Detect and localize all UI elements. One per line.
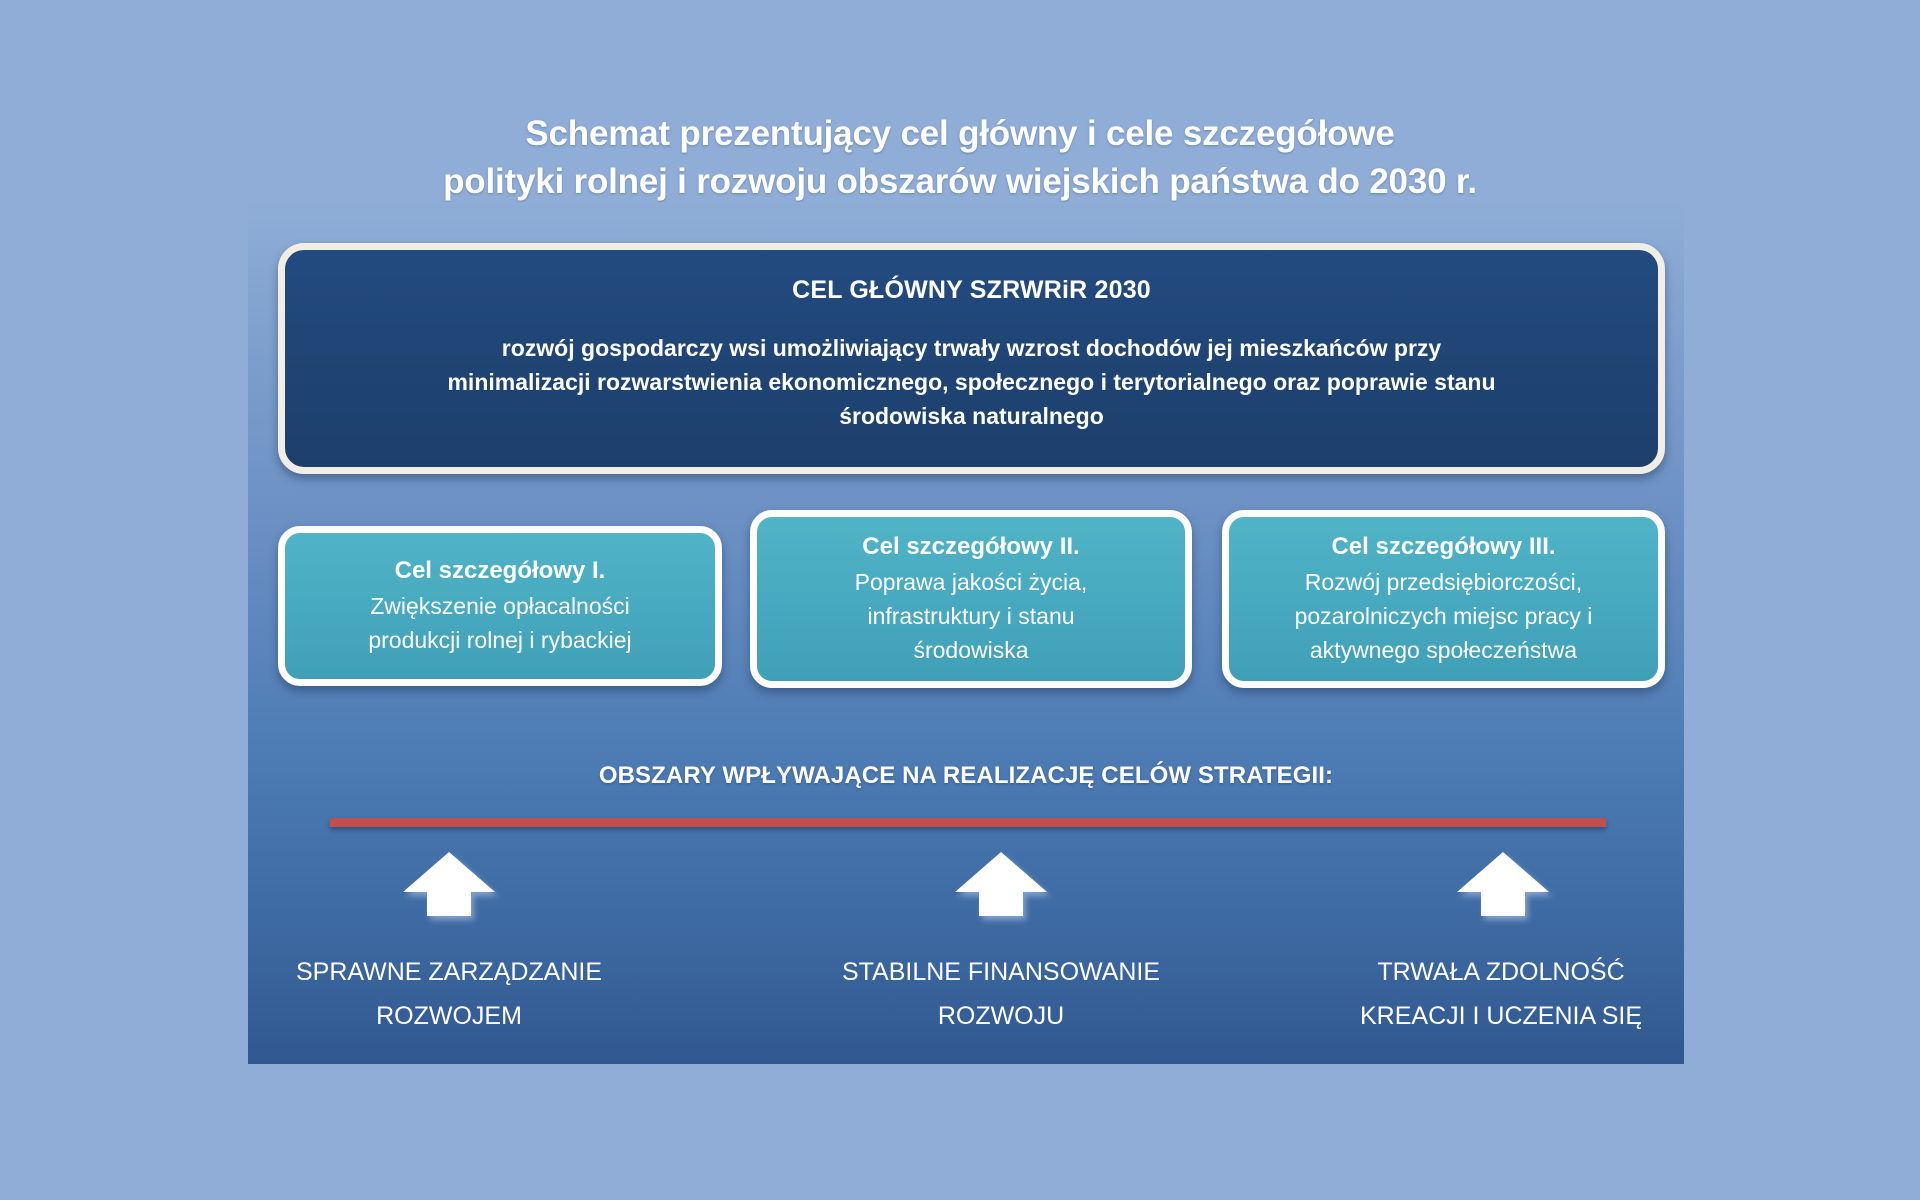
main-goal-body-line-2: minimalizacji rozwarstwienia ekonomiczne… xyxy=(325,365,1618,399)
specific-goal-1-line-1: Zwiększenie opłacalności xyxy=(299,589,701,623)
diagram-canvas: Schemat prezentujący cel główny i cele s… xyxy=(0,0,1920,1200)
specific-goal-3-description: Rozwój przedsiębiorczości, pozarolniczyc… xyxy=(1243,565,1644,667)
specific-goal-1-line-2: produkcji rolnej i rybackiej xyxy=(299,623,701,657)
main-goal-body-line-1: rozwój gospodarczy wsi umożliwiający trw… xyxy=(325,331,1618,365)
areas-heading: OBSZARY WPŁYWAJĄCE NA REALIZACJĘ CELÓW S… xyxy=(248,762,1684,790)
main-goal-heading: CEL GŁÓWNY SZRWRiR 2030 xyxy=(325,276,1618,305)
area-label-1: SPRAWNE ZARZĄDZANIE ROZWOJEM xyxy=(234,950,664,1038)
area-label-3: TRWAŁA ZDOLNOŚĆ KREACJI I UCZENIA SIĘ xyxy=(1286,950,1716,1038)
red-divider-line xyxy=(330,818,1606,827)
specific-goals-row: Cel szczegółowy I. Zwiększenie opłacalno… xyxy=(278,510,1665,690)
specific-goal-3-line-3: aktywnego społeczeństwa xyxy=(1243,633,1644,667)
area-label-1-line-2: ROZWOJEM xyxy=(234,994,664,1038)
specific-goal-box-2: Cel szczegółowy II. Poprawa jakości życi… xyxy=(750,510,1192,688)
page-title: Schemat prezentujący cel główny i cele s… xyxy=(0,110,1920,206)
specific-goal-2-line-3: środowiska xyxy=(771,633,1171,667)
title-line-1: Schemat prezentujący cel główny i cele s… xyxy=(0,110,1920,158)
area-label-2: STABILNE FINANSOWANIE ROZWOJU xyxy=(786,950,1216,1038)
specific-goal-1-description: Zwiększenie opłacalności produkcji rolne… xyxy=(299,589,701,657)
specific-goal-2-line-1: Poprawa jakości życia, xyxy=(771,565,1171,599)
area-label-2-line-2: ROZWOJU xyxy=(786,994,1216,1038)
specific-goal-3-line-2: pozarolniczych miejsc pracy i xyxy=(1243,599,1644,633)
specific-goal-2-title: Cel szczegółowy II. xyxy=(771,531,1171,563)
specific-goal-2-line-2: infrastruktury i stanu xyxy=(771,599,1171,633)
specific-goal-3-title: Cel szczegółowy III. xyxy=(1243,531,1644,563)
up-arrow-icon xyxy=(399,850,499,918)
title-line-2: polityki rolnej i rozwoju obszarów wiejs… xyxy=(0,158,1920,206)
specific-goal-1-title: Cel szczegółowy I. xyxy=(299,555,701,587)
specific-goal-3-line-1: Rozwój przedsiębiorczości, xyxy=(1243,565,1644,599)
specific-goal-box-3: Cel szczegółowy III. Rozwój przedsiębior… xyxy=(1222,510,1665,688)
specific-goal-2-description: Poprawa jakości życia, infrastruktury i … xyxy=(771,565,1171,667)
main-goal-body: rozwój gospodarczy wsi umożliwiający trw… xyxy=(325,331,1618,433)
specific-goal-box-1: Cel szczegółowy I. Zwiększenie opłacalno… xyxy=(278,526,722,686)
area-label-1-line-1: SPRAWNE ZARZĄDZANIE xyxy=(234,950,664,994)
up-arrow-icon xyxy=(1453,850,1553,918)
up-arrow-icon xyxy=(951,850,1051,918)
main-goal-box: CEL GŁÓWNY SZRWRiR 2030 rozwój gospodarc… xyxy=(278,243,1665,474)
area-label-3-line-1: TRWAŁA ZDOLNOŚĆ xyxy=(1286,950,1716,994)
main-goal-body-line-3: środowiska naturalnego xyxy=(325,399,1618,433)
area-label-2-line-1: STABILNE FINANSOWANIE xyxy=(786,950,1216,994)
area-label-3-line-2: KREACJI I UCZENIA SIĘ xyxy=(1286,994,1716,1038)
